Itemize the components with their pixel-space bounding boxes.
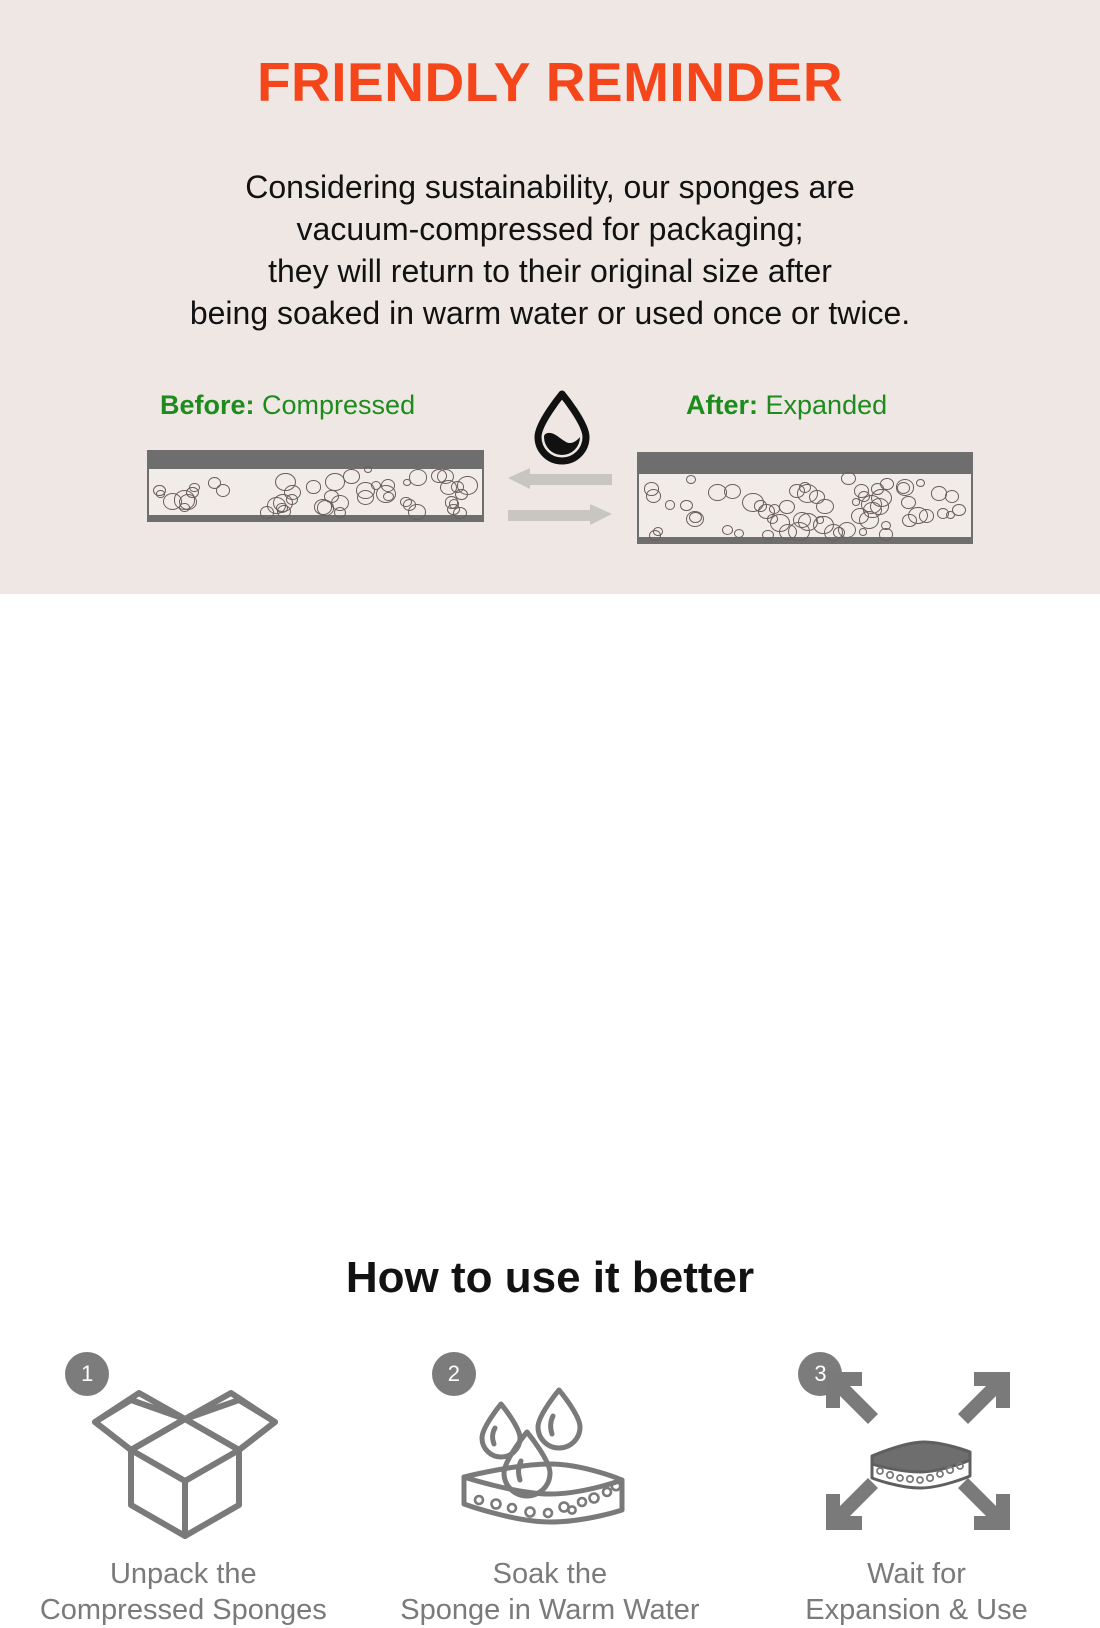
exchange-arrows bbox=[508, 468, 612, 531]
step-caption-line-2: Expansion & Use bbox=[805, 1592, 1027, 1628]
sponge-pore bbox=[916, 479, 925, 487]
step-item: 2 bbox=[367, 1342, 734, 1628]
before-label-rest: Compressed bbox=[262, 390, 415, 420]
sponge-pore bbox=[841, 472, 856, 486]
sponge-pore bbox=[431, 469, 447, 483]
reminder-body-line-2: vacuum-compressed for packaging; bbox=[0, 208, 1100, 250]
sponge-pore bbox=[665, 500, 676, 510]
steps-list: 1 bbox=[0, 1342, 1100, 1628]
sponge-pore bbox=[409, 469, 428, 486]
sponge-pore bbox=[854, 484, 870, 498]
sponge-pore bbox=[356, 482, 375, 499]
step-caption: Soak the Sponge in Warm Water bbox=[400, 1556, 699, 1628]
sponge-pore bbox=[649, 530, 661, 541]
how-to-use-panel: How to use it better 1 bbox=[0, 594, 1100, 1039]
sponge-pore bbox=[762, 530, 773, 540]
reminder-body-text: Considering sustainability, our sponges … bbox=[0, 166, 1100, 334]
expanded-sponge-slab bbox=[872, 1442, 970, 1488]
sponge-pore bbox=[325, 473, 345, 491]
sponge-pore bbox=[946, 511, 955, 519]
reminder-body-line-4: being soaked in warm water or used once … bbox=[0, 292, 1100, 334]
step-item: 3 bbox=[733, 1342, 1100, 1628]
sponge-pore bbox=[186, 487, 199, 499]
after-label-strong: After: bbox=[686, 390, 758, 420]
sponge-top-surface bbox=[639, 454, 971, 474]
sponge-pore bbox=[306, 480, 321, 493]
after-label: After: Expanded bbox=[686, 390, 887, 421]
sponge-pore bbox=[879, 528, 894, 541]
after-label-rest: Expanded bbox=[766, 390, 888, 420]
before-label-strong: Before: bbox=[160, 390, 255, 420]
sponge-pore bbox=[722, 525, 733, 535]
sponge-pore bbox=[859, 528, 867, 536]
sponge-pore bbox=[451, 481, 464, 493]
sponge-pore bbox=[686, 475, 696, 484]
sponge-pore bbox=[364, 466, 372, 473]
sponge-pore bbox=[816, 499, 834, 515]
sponge-top-surface bbox=[149, 452, 482, 469]
step-1-artwork: 1 bbox=[63, 1342, 303, 1542]
friendly-reminder-panel: FRIENDLY REMINDER Considering sustainabi… bbox=[0, 0, 1100, 594]
sponge-pore bbox=[153, 485, 165, 496]
compressed-sponge-illustration bbox=[147, 450, 484, 522]
sponge-pore bbox=[408, 504, 426, 520]
reminder-body-line-1: Considering sustainability, our sponges … bbox=[0, 166, 1100, 208]
step-caption: Wait for Expansion & Use bbox=[805, 1556, 1027, 1628]
sponge-pore bbox=[273, 494, 293, 512]
sponge-pore bbox=[798, 513, 818, 531]
sponge-pore bbox=[275, 473, 296, 491]
sponge-pore bbox=[686, 511, 704, 527]
before-after-comparison: Before: Compressed After: Expanded bbox=[0, 390, 1100, 560]
sponge-pore bbox=[447, 504, 460, 515]
step-caption-line-1: Wait for bbox=[805, 1556, 1027, 1592]
sponge-pore bbox=[343, 469, 360, 484]
reminder-body-line-3: they will return to their original size … bbox=[0, 250, 1100, 292]
sponge-bottom-edge bbox=[149, 515, 482, 520]
sponge-pore bbox=[852, 498, 860, 506]
step-item: 1 bbox=[0, 1342, 367, 1628]
step-2-artwork: 2 bbox=[430, 1342, 670, 1542]
page-title: FRIENDLY REMINDER bbox=[0, 55, 1100, 110]
sponge-pore bbox=[646, 489, 661, 503]
arrow-left-icon bbox=[508, 468, 612, 489]
sponge-pore bbox=[833, 527, 845, 538]
howto-title: How to use it better bbox=[0, 1256, 1100, 1300]
water-drop-icon bbox=[528, 389, 596, 472]
step-caption-line-2: Sponge in Warm Water bbox=[400, 1592, 699, 1628]
step-caption-line-1: Unpack the bbox=[40, 1556, 327, 1592]
transformation-icons bbox=[508, 390, 618, 545]
sponge-pore bbox=[758, 504, 775, 519]
arrow-right-icon bbox=[508, 504, 612, 525]
sponge-pore bbox=[734, 529, 744, 538]
step-3-artwork: 3 bbox=[796, 1342, 1036, 1542]
sponge-pore bbox=[317, 500, 335, 516]
sponge-pore bbox=[902, 514, 916, 527]
sponge-pore bbox=[383, 492, 394, 502]
water-drops-on-sponge-icon bbox=[454, 1360, 654, 1547]
expanded-sponge-illustration bbox=[637, 452, 973, 544]
sponge-pore bbox=[260, 506, 274, 518]
sponge-pore bbox=[680, 500, 693, 511]
sponge-pore bbox=[861, 495, 882, 514]
sponge-pore bbox=[897, 482, 910, 494]
sponge-pore bbox=[779, 500, 795, 514]
sponge-pore bbox=[724, 484, 741, 499]
step-caption-line-2: Compressed Sponges bbox=[40, 1592, 327, 1628]
open-box-icon bbox=[87, 1360, 283, 1547]
step-caption-line-1: Soak the bbox=[400, 1556, 699, 1592]
step-caption: Unpack the Compressed Sponges bbox=[40, 1556, 327, 1628]
expanding-arrows-sponge-icon bbox=[820, 1360, 1016, 1547]
sponge-pore bbox=[945, 490, 959, 503]
before-label: Before: Compressed bbox=[160, 390, 415, 421]
